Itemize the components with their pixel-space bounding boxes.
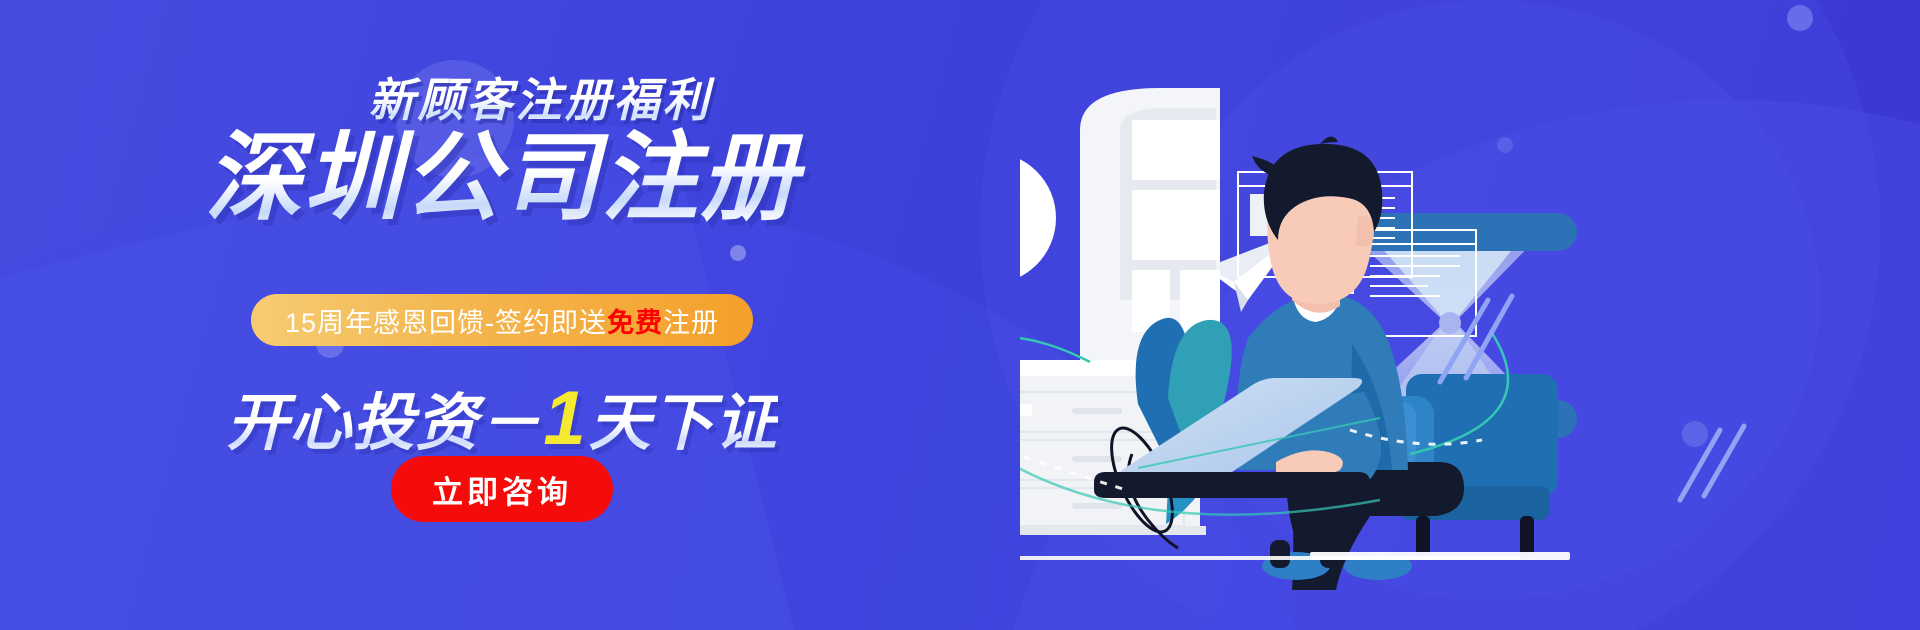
subline-number: 1 <box>541 376 588 461</box>
promo-badge-suffix: 注册 <box>663 301 719 340</box>
floor-rug <box>1310 552 1570 560</box>
subline-before: 开心投资－ <box>226 389 541 458</box>
promo-banner: 新顾客注册福利 深圳公司注册 15周年感恩回馈-签约即送免费注册 开心投资－1天… <box>0 0 1920 630</box>
consult-now-button[interactable]: 立即咨询 <box>391 456 613 522</box>
promo-badge-wrapper: 15周年感恩回馈-签约即送免费注册 <box>22 294 982 346</box>
clock-icon <box>1020 152 1056 284</box>
banner-eyebrow: 新顾客注册福利 <box>60 64 1020 130</box>
promo-badge: 15周年感恩回馈-签约即送免费注册 <box>251 294 753 346</box>
promo-badge-highlight: 免费 <box>607 301 663 340</box>
banner-headline: 深圳公司注册 <box>22 124 982 233</box>
banner-copy: 新顾客注册福利 深圳公司注册 15周年感恩回馈-签约即送免费注册 开心投资－1天… <box>0 0 960 630</box>
banner-subline: 开心投资－1天下证 <box>22 372 982 462</box>
cta-wrapper: 立即咨询 <box>22 456 982 522</box>
subline-after: 天下证 <box>589 389 778 458</box>
hero-illustration <box>1020 0 1920 630</box>
promo-badge-prefix: 15周年感恩回馈-签约即送 <box>285 301 607 340</box>
illustration-svg <box>1020 0 1920 630</box>
